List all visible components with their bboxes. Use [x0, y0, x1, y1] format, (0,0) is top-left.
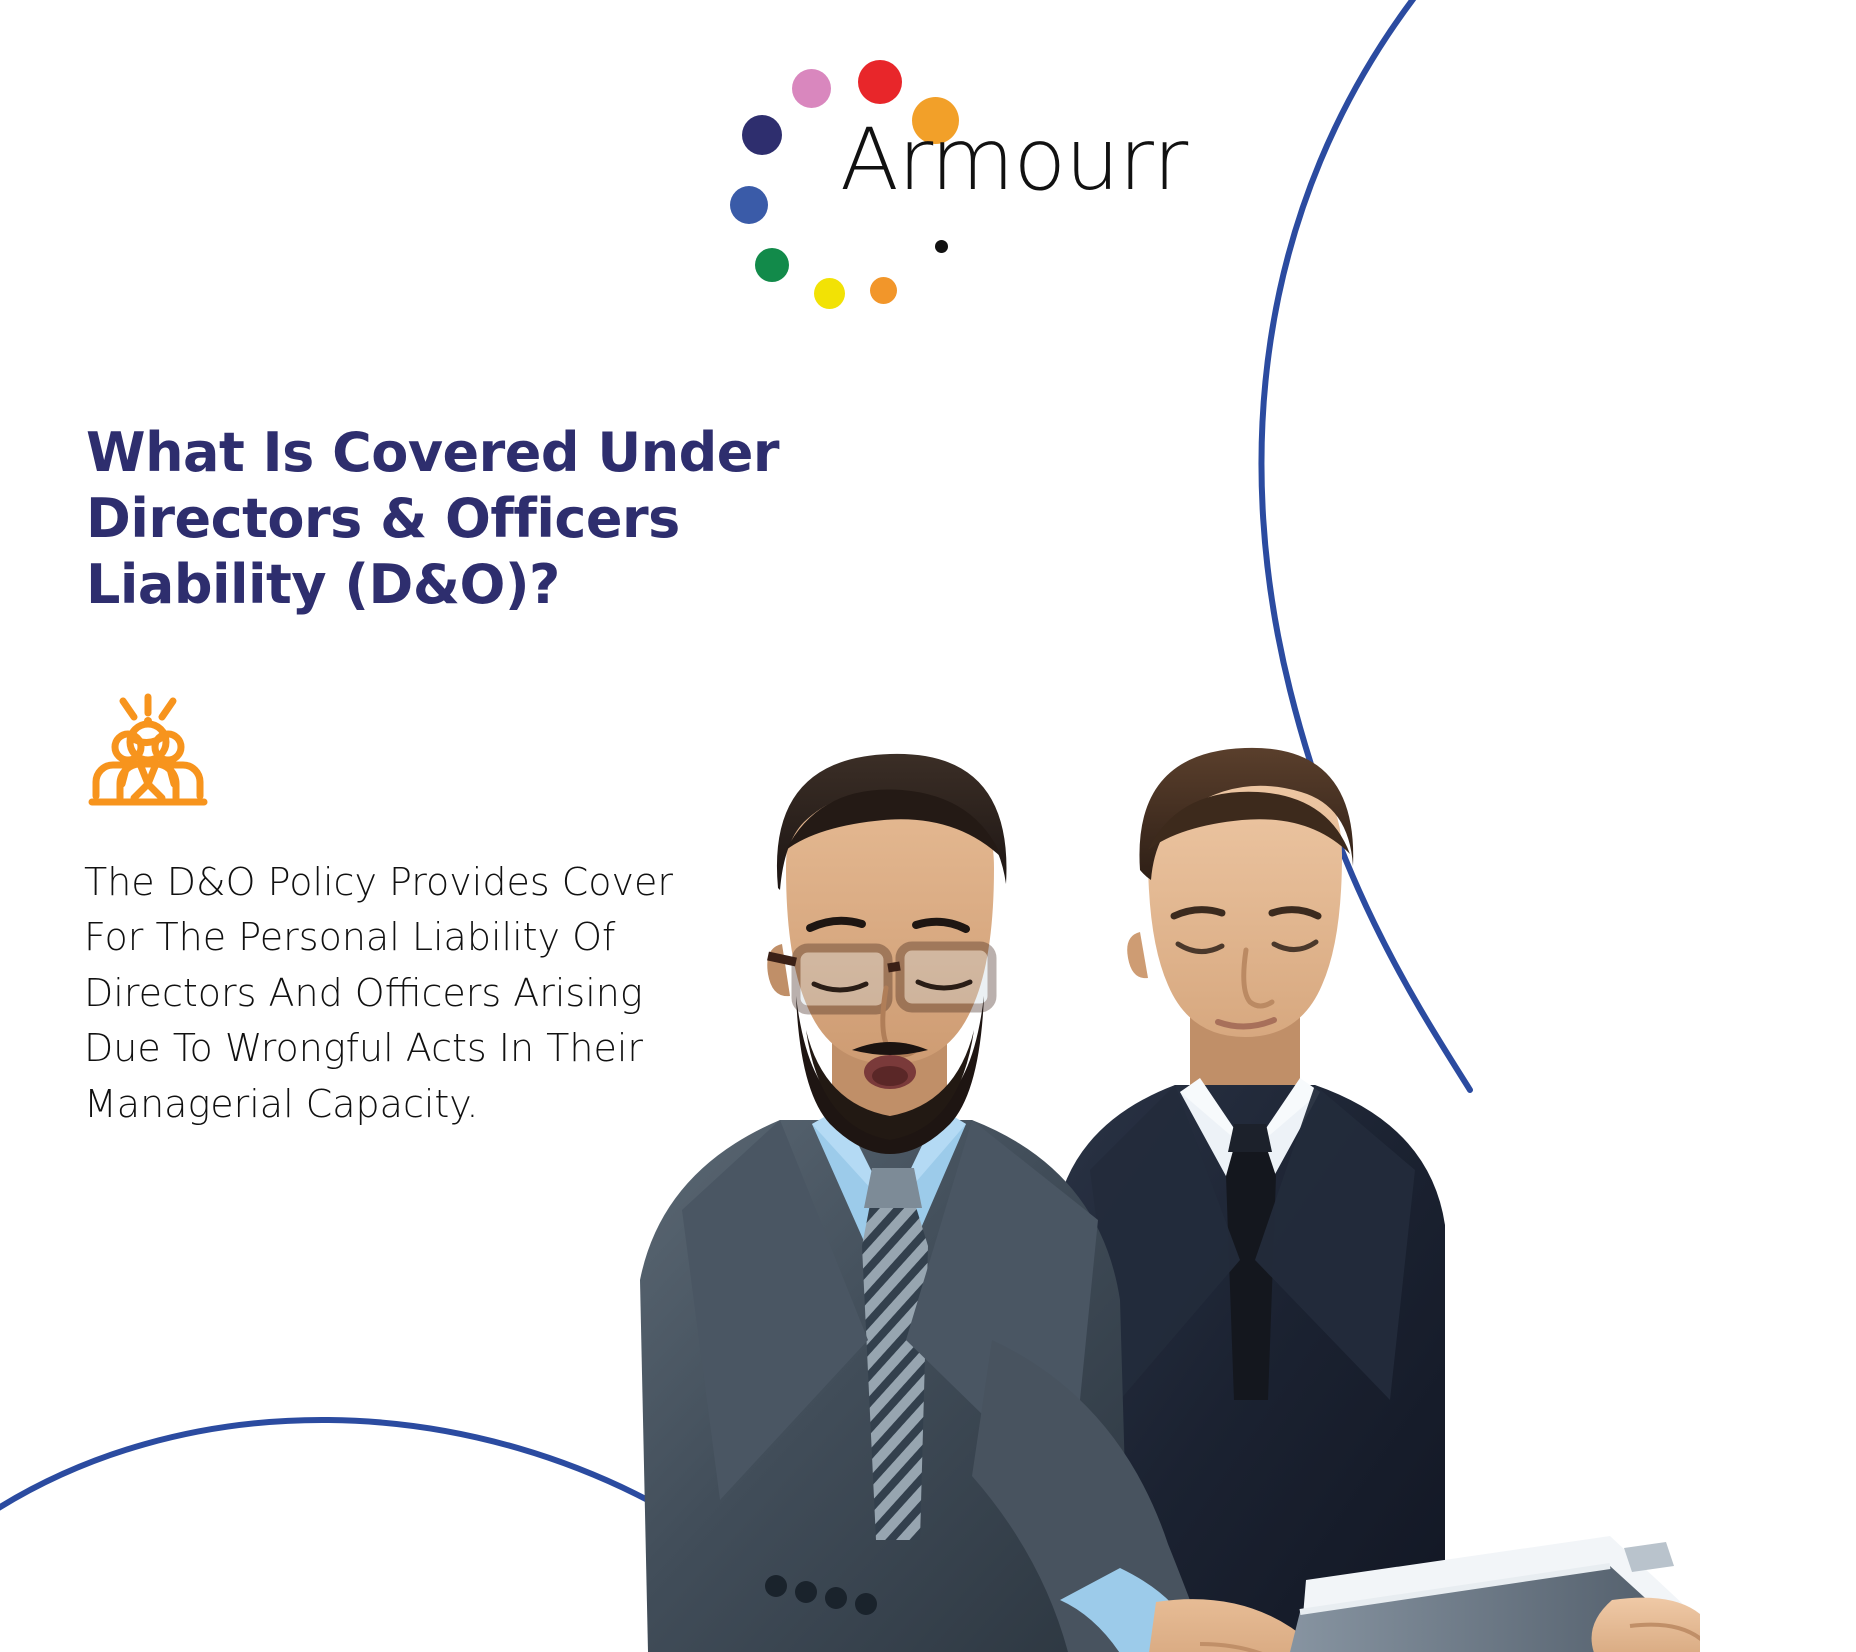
page-title: What Is Covered Under Directors & Office… — [86, 420, 846, 618]
team-alert-icon — [82, 692, 214, 810]
spark-ray-right — [162, 701, 173, 717]
eyeglasses — [768, 946, 992, 1010]
two-businessmen-photo — [600, 700, 1700, 1652]
body-line-1: The D&O Policy Provides Cover — [84, 855, 784, 910]
logo-dot-green — [755, 248, 789, 282]
person-center-hair — [132, 736, 164, 743]
photo-illustration — [600, 700, 1700, 1652]
logo-dot-red — [858, 60, 902, 104]
clipboard-clip — [1624, 1542, 1674, 1572]
logo-dot-black — [935, 240, 948, 253]
logo-dot-blue — [730, 186, 768, 224]
body-paragraph: The D&O Policy Provides Cover For The Pe… — [84, 855, 784, 1132]
left-mouth-inner — [872, 1066, 908, 1086]
body-line-5: Managerial Capacity. — [84, 1077, 784, 1132]
logo-dot-pink — [792, 69, 831, 108]
person-center-lapel-right — [148, 764, 162, 798]
person-left-lapel — [122, 765, 127, 784]
left-tie-knot — [864, 1168, 922, 1208]
logo-dot-navy — [742, 115, 782, 155]
headline-line-2: Directors & Officers — [86, 486, 846, 552]
poster-canvas: Armourr What Is Covered Under Directors … — [0, 0, 1856, 1652]
right-ear — [1127, 932, 1148, 978]
person-right-lapel — [169, 765, 174, 784]
brand-wordmark: Armourr — [840, 117, 1187, 203]
headline-line-1: What Is Covered Under — [86, 420, 846, 486]
logo-dot-yellow — [814, 278, 845, 309]
body-line-3: Directors And Officers Arising — [84, 966, 784, 1021]
right-tie-knot — [1228, 1124, 1272, 1152]
right-hand — [1592, 1598, 1700, 1652]
body-line-2: For The Personal Liability Of — [84, 910, 784, 965]
headline-line-3: Liability (D&O)? — [86, 552, 846, 618]
brand-logo[interactable]: Armourr — [730, 55, 1130, 280]
body-line-4: Due To Wrongful Acts In Their — [84, 1021, 784, 1076]
logo-dot-amber — [870, 277, 897, 304]
spark-ray-left — [123, 701, 134, 717]
